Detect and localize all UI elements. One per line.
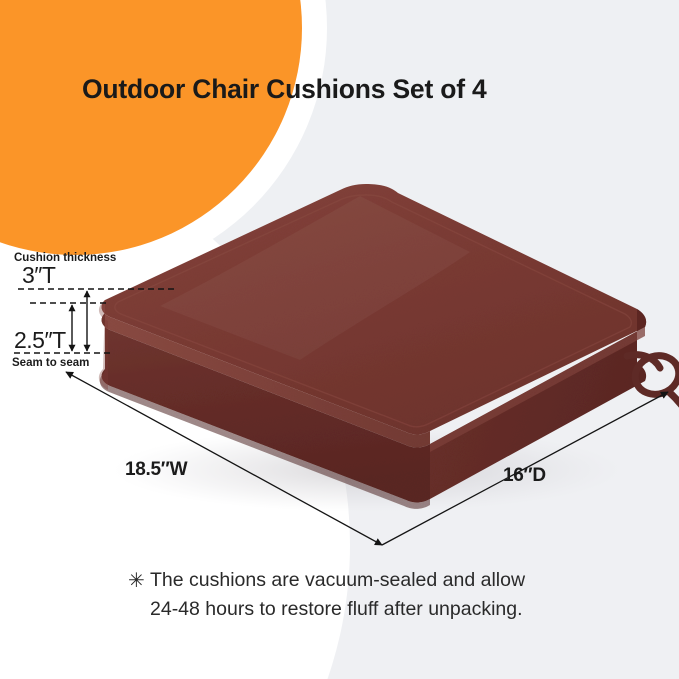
label-seam-value: 2.5″T (14, 327, 66, 354)
page-title: Outdoor Chair Cushions Set of 4 (82, 74, 487, 105)
label-width-value: 18.5″W (125, 459, 187, 481)
footnote-line-1: The cushions are vacuum-sealed and allow (150, 566, 525, 595)
footnote-asterisk-icon: ✳ (128, 567, 145, 596)
footnote-line-2: 24-48 hours to restore fluff after unpac… (150, 595, 525, 624)
label-depth-value: 16″D (503, 465, 546, 487)
label-seam-to-seam-caption: Seam to seam (12, 357, 89, 369)
label-thickness-value: 3″T (22, 262, 55, 289)
arrow-width (66, 372, 382, 545)
infographic-canvas: Outdoor Chair Cushions Set of 4 Cushion … (0, 0, 679, 679)
footnote: ✳ The cushions are vacuum-sealed and all… (128, 566, 525, 624)
